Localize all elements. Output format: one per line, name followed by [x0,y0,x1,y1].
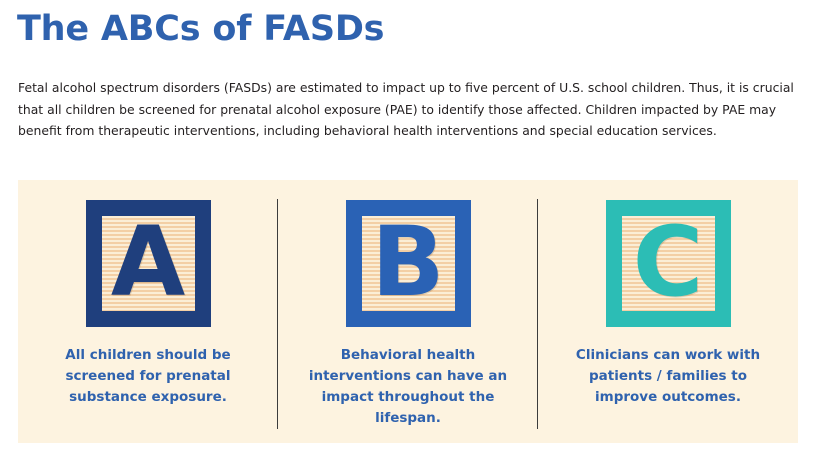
caption-a: All children should be screened for pren… [41,345,256,408]
abc-column-a: A All children should be screened for pr… [18,180,278,443]
page-title: The ABCs of FASDs [17,7,384,51]
block-c-letter: C [633,214,703,310]
caption-c: Clinicians can work with patients / fami… [561,345,776,408]
abc-panel: A All children should be screened for pr… [18,180,798,443]
letter-block-c: C [606,200,731,327]
intro-paragraph: Fetal alcohol spectrum disorders (FASDs)… [18,77,803,142]
abc-column-c: C Clinicians can work with patients / fa… [538,180,798,443]
abc-column-b: B Behavioral health interventions can ha… [278,180,538,443]
abc-columns: A All children should be screened for pr… [18,180,798,443]
block-b-letter: B [371,214,444,310]
caption-b: Behavioral health interventions can have… [301,345,516,429]
block-a-letter: A [111,214,185,310]
letter-block-a: A [86,200,211,327]
infographic-page: The ABCs of FASDs Fetal alcohol spectrum… [0,0,814,460]
letter-block-b: B [346,200,471,327]
